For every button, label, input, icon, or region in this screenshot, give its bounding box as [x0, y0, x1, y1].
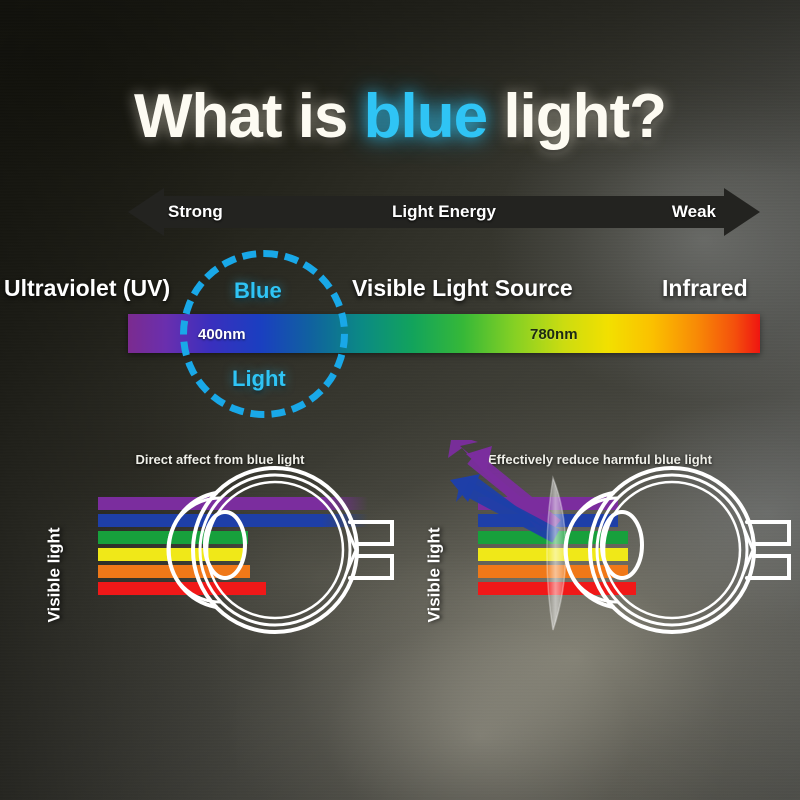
- label-light-energy: Light Energy: [128, 196, 760, 228]
- page-title: What is blue light?: [0, 86, 800, 148]
- light-energy-arrow: Strong Light Energy Weak: [128, 188, 760, 236]
- label-infrared: Infrared: [662, 275, 748, 302]
- blue-light-highlight-circle: [180, 250, 348, 418]
- beam-violet: [98, 497, 258, 510]
- eye-diagram-protected: [400, 440, 800, 670]
- panel-protected: Effectively reduce harmful blue light Vi…: [400, 440, 800, 670]
- panel-direct-effect: Direct affect from blue light Visible li…: [20, 440, 420, 670]
- label-ultraviolet: Ultraviolet (UV): [4, 275, 170, 302]
- marker-780nm: 780nm: [530, 326, 578, 343]
- title-part-1: What is: [134, 82, 364, 151]
- title-highlight-blue: blue: [364, 82, 487, 151]
- beam-violet-inside: [258, 497, 368, 510]
- eye-diagram-unprotected: [20, 440, 420, 670]
- label-visible-light-source: Visible Light Source: [352, 275, 573, 302]
- title-part-2: light?: [487, 82, 666, 151]
- label-weak: Weak: [672, 196, 716, 228]
- infographic-canvas: What is blue light? Strong Light Energy …: [0, 0, 800, 800]
